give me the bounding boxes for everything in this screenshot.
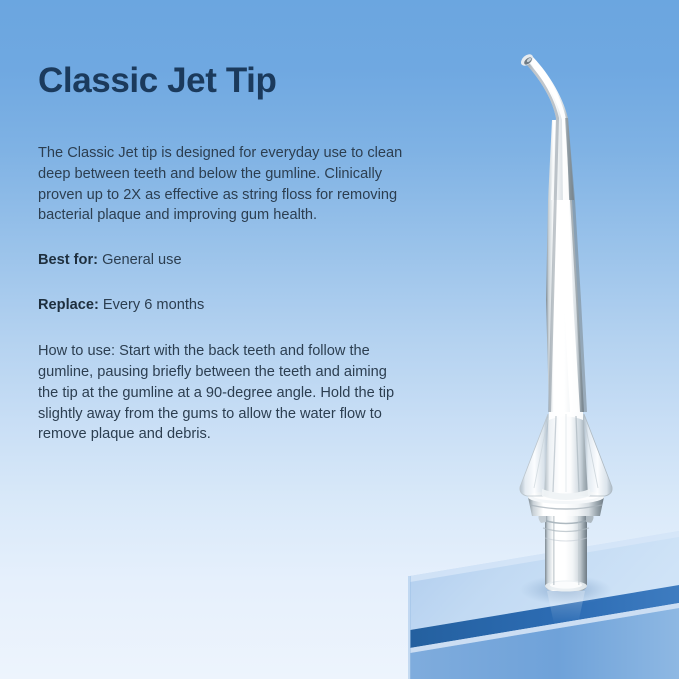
spec-replace-label: Replace: <box>38 297 99 313</box>
usage-instructions: How to use: Start with the back teeth an… <box>38 341 410 445</box>
product-description: The Classic Jet tip is designed for ever… <box>38 143 410 226</box>
product-info-card: Classic Jet Tip The Classic Jet tip is d… <box>0 0 679 679</box>
spec-best-for-value: General use <box>102 252 182 268</box>
product-copy: Classic Jet Tip The Classic Jet tip is d… <box>38 62 410 445</box>
blue-display-pedestal <box>408 531 679 679</box>
classic-jet-tip-nozzle <box>519 52 612 624</box>
spec-best-for: Best for: General use <box>38 250 410 271</box>
page-title: Classic Jet Tip <box>38 62 410 99</box>
spec-best-for-label: Best for: <box>38 252 98 268</box>
spec-replace: Replace: Every 6 months <box>38 295 410 316</box>
spec-replace-value: Every 6 months <box>103 297 204 313</box>
